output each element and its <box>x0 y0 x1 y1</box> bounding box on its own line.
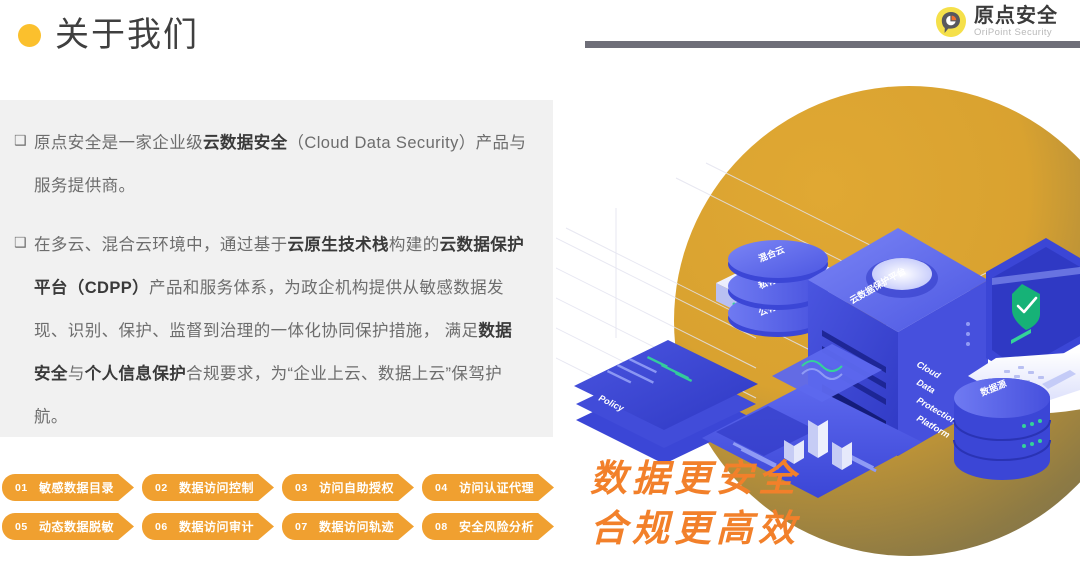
tag-label: 敏感数据目录 <box>39 479 114 496</box>
header-divider-rule <box>585 41 1080 48</box>
logo-company-name: 原点安全 <box>974 6 1058 27</box>
logo-text: 原点安全 OriPoint Security <box>974 6 1058 38</box>
about-paragraph-2-text: 在多云、混合云环境中，通过基于云原生技术栈构建的云数据保护平台（CDPP）产品和… <box>34 224 527 439</box>
datasource-cylinder: 数据源 <box>954 378 1050 480</box>
run-text-bold: 云数据安全 <box>203 134 288 152</box>
brand-logo: 原点安全 OriPoint Security <box>935 6 1058 38</box>
slide-root: 关于我们 原点安全 OriPoint Security <box>0 0 1080 581</box>
run-text: 构建的 <box>389 236 440 254</box>
capability-tag-list: 01 敏感数据目录 02 数据访问控制 03 访问自助授权 04 访问认证代理 … <box>0 474 556 552</box>
run-text: 在多云、混合云环境中，通过基于 <box>34 236 288 254</box>
tag-number: 06 <box>155 521 175 533</box>
tag-label: 数据访问控制 <box>179 479 254 496</box>
slogan-line-2: 合规更高效 <box>590 505 800 555</box>
tag-label: 数据访问轨迹 <box>319 518 394 535</box>
about-text-panel: ❑ 原点安全是一家企业级云数据安全（Cloud Data Security）产品… <box>0 100 553 437</box>
isometric-scene: Policy <box>556 108 1080 508</box>
tag-label: 动态数据脱敏 <box>39 518 114 535</box>
capability-tag[interactable]: 07 数据访问轨迹 <box>282 513 414 540</box>
tag-number: 07 <box>295 521 315 533</box>
run-text-bold: 个人信息保护 <box>85 365 186 383</box>
tag-label: 访问自助授权 <box>319 479 394 496</box>
tag-number: 04 <box>435 482 455 494</box>
cloud-1-hybrid: 混合云 <box>728 240 828 283</box>
tag-number: 01 <box>15 482 35 494</box>
tag-number: 08 <box>435 521 455 533</box>
about-paragraph-1: ❑ 原点安全是一家企业级云数据安全（Cloud Data Security）产品… <box>14 122 527 208</box>
tag-label: 数据访问审计 <box>179 518 254 535</box>
tag-row-2: 05 动态数据脱敏 06 数据访问审计 07 数据访问轨迹 08 安全风险分析 <box>0 513 556 540</box>
tag-row-1: 01 敏感数据目录 02 数据访问控制 03 访问自助授权 04 访问认证代理 <box>0 474 556 501</box>
run-text: 与 <box>68 365 85 383</box>
bullet-dot-icon <box>18 24 41 47</box>
about-paragraph-2: ❑ 在多云、混合云环境中，通过基于云原生技术栈构建的云数据保护平台（CDPP）产… <box>14 224 527 439</box>
slogan-block: 数据更安全 合规更高效 <box>590 455 800 555</box>
tag-number: 05 <box>15 521 35 533</box>
capability-tag[interactable]: 02 数据访问控制 <box>142 474 274 501</box>
about-paragraph-1-text: 原点安全是一家企业级云数据安全（Cloud Data Security）产品与服… <box>34 122 527 208</box>
capability-tag[interactable]: 06 数据访问审计 <box>142 513 274 540</box>
bullet-square-icon: ❑ <box>14 224 34 439</box>
capability-tag[interactable]: 01 敏感数据目录 <box>2 474 134 501</box>
tag-label: 安全风险分析 <box>459 518 534 535</box>
capability-tag[interactable]: 05 动态数据脱敏 <box>2 513 134 540</box>
run-text: 原点安全是一家企业级 <box>34 134 203 152</box>
capability-tag[interactable]: 04 访问认证代理 <box>422 474 554 501</box>
page-title: 关于我们 <box>55 18 199 52</box>
capability-tag[interactable]: 08 安全风险分析 <box>422 513 554 540</box>
run-text-bold: 云原生技术栈 <box>288 236 389 254</box>
page-header: 关于我们 <box>18 18 199 52</box>
tag-label: 访问认证代理 <box>459 479 534 496</box>
tag-number: 03 <box>295 482 315 494</box>
bullet-square-icon: ❑ <box>14 122 34 208</box>
logo-company-subtitle: OriPoint Security <box>974 28 1058 38</box>
slogan-line-1: 数据更安全 <box>590 455 800 505</box>
capability-tag[interactable]: 03 访问自助授权 <box>282 474 414 501</box>
oripoint-logo-icon <box>935 6 967 38</box>
tag-number: 02 <box>155 482 175 494</box>
